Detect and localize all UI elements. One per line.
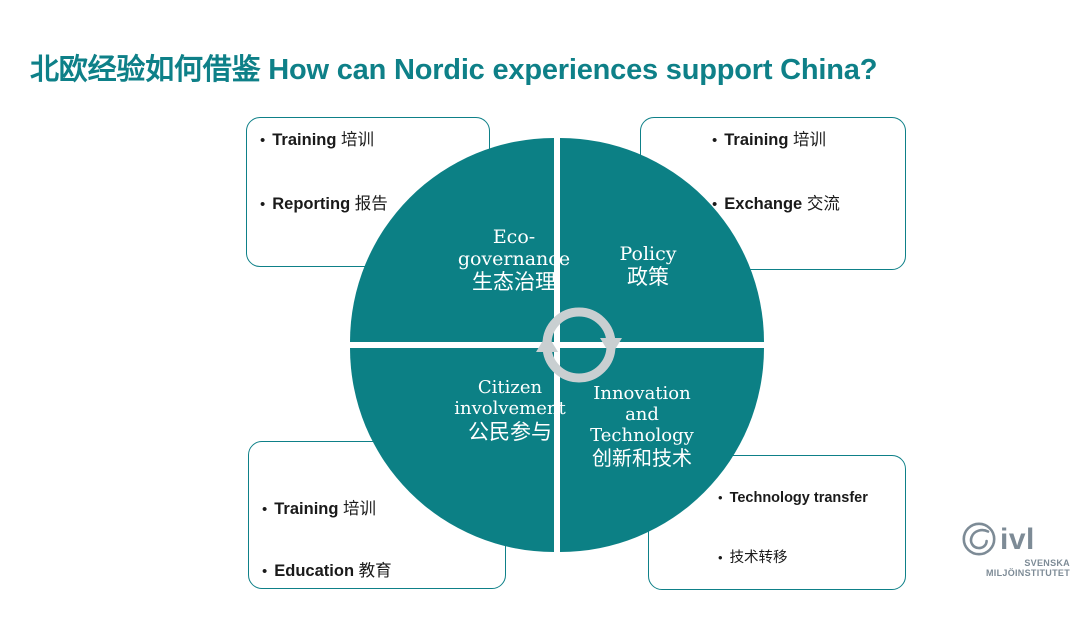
bullet-glyph-icon: • bbox=[260, 197, 265, 212]
page-title-english: How can Nordic experiences support China… bbox=[268, 54, 877, 86]
list-item-latin: Education bbox=[274, 562, 354, 580]
ivl-spiral-icon bbox=[962, 522, 996, 556]
ivl-logo: ivl SVENSKA MILJÖINSTITUTET bbox=[962, 522, 1070, 584]
list-item-latin: Training bbox=[272, 131, 336, 149]
cycle-arrows-icon bbox=[533, 298, 625, 390]
slide-canvas: 北欧经验如何借鉴 How can Nordic experiences supp… bbox=[0, 0, 1080, 608]
logo-subtitle-line1: SVENSKA bbox=[962, 558, 1070, 568]
bullet-glyph-icon: • bbox=[260, 133, 265, 148]
bullet-glyph-icon: • bbox=[718, 551, 723, 564]
logo-row: ivl bbox=[962, 522, 1070, 556]
page-title-chinese: 北欧经验如何借鉴 bbox=[30, 52, 260, 86]
wheel-quadrant-eco-governance[interactable] bbox=[350, 138, 554, 342]
list-item-chinese: 教育 bbox=[359, 561, 392, 580]
bullet-glyph-icon: • bbox=[262, 564, 267, 579]
list-item-chinese: 交流 bbox=[807, 194, 840, 213]
list-item: • Education 教育 bbox=[262, 557, 392, 581]
wheel-quadrant-citizen-involvement[interactable] bbox=[350, 348, 554, 552]
quadrant-wheel-diagram: Eco-governance 生态治理 Policy 政策 Citizen in… bbox=[350, 138, 764, 552]
page-title: 北欧经验如何借鉴 How can Nordic experiences supp… bbox=[30, 52, 877, 88]
logo-subtitle: SVENSKA MILJÖINSTITUTET bbox=[962, 558, 1070, 578]
logo-subtitle-line2: MILJÖINSTITUTET bbox=[962, 568, 1070, 578]
list-item-chinese: 培训 bbox=[793, 130, 826, 149]
logo-wordmark: ivl bbox=[1000, 526, 1035, 553]
list-item-latin: Training bbox=[274, 500, 338, 518]
bullet-glyph-icon: • bbox=[262, 502, 267, 517]
list-item-label: Education 教育 bbox=[274, 557, 391, 581]
list-item-latin: Reporting bbox=[272, 195, 350, 213]
list-item-chinese: 技术转移 bbox=[730, 550, 788, 566]
